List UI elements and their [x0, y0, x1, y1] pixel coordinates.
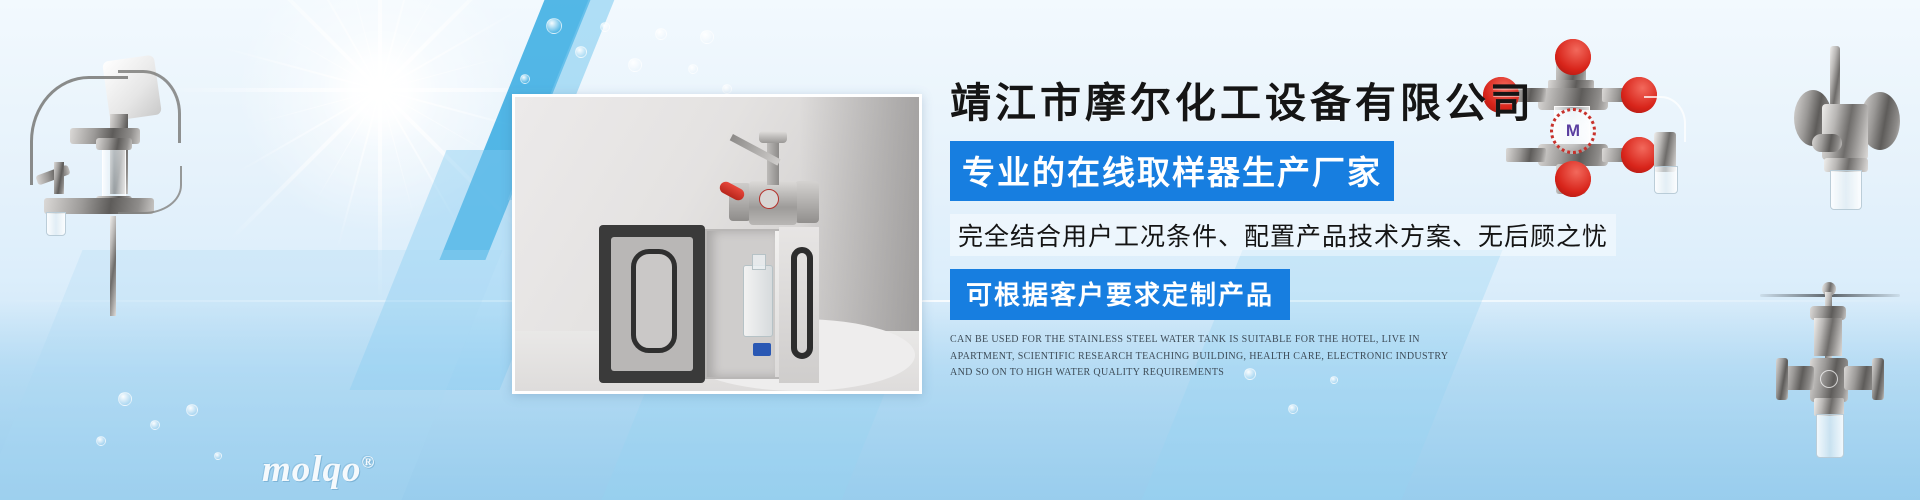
subheadline: 完全结合用户工况条件、配置产品技术方案、无后顾之忧: [950, 214, 1616, 256]
water-droplet: [150, 420, 160, 430]
product-photo: [512, 94, 922, 394]
valve-badge: [759, 189, 779, 209]
equipment-flanged-sampling-valve: [1774, 272, 1920, 492]
water-droplet: [520, 74, 530, 84]
valve-flange-right: [795, 181, 819, 223]
cabinet-door-window: [631, 249, 677, 353]
water-droplet: [700, 30, 714, 44]
water-droplet: [600, 22, 610, 32]
english-description: CAN BE USED FOR THE STAINLESS STEEL WATE…: [950, 332, 1450, 382]
equipment-lever-valve: [1768, 30, 1920, 250]
cabinet-handle: [791, 247, 813, 359]
water-droplet: [118, 392, 132, 406]
sample-bottle: [743, 265, 773, 337]
headline-badge: 专业的在线取样器生产厂家: [950, 141, 1394, 201]
water-droplet: [722, 84, 732, 94]
water-droplet: [546, 18, 562, 34]
banner-text-block: 靖江市摩尔化工设备有限公司 专业的在线取样器生产厂家 完全结合用户工况条件、配置…: [950, 78, 1710, 382]
valve-knob: [759, 131, 787, 143]
equipment-left-sampler: [10, 30, 200, 320]
water-droplet: [96, 436, 106, 446]
blue-cap: [753, 343, 771, 356]
water-droplet: [688, 64, 698, 74]
sampler-valve-assembly: [727, 133, 819, 233]
red-handwheel-top: [1560, 44, 1586, 70]
water-droplet: [575, 46, 587, 58]
water-droplet: [186, 404, 198, 416]
watermark-logo: molqo®: [262, 448, 375, 491]
watermark-registered-mark: ®: [362, 453, 376, 472]
watermark-text: molqo: [262, 449, 362, 490]
company-name: 靖江市摩尔化工设备有限公司: [950, 78, 1710, 129]
water-droplet: [655, 28, 667, 40]
water-droplet: [214, 452, 222, 460]
water-droplet: [628, 58, 642, 72]
water-droplet: [1288, 404, 1298, 414]
promotional-banner: M 靖江市摩尔化工设备有限公司 专业的在线取样器生产厂家 完全结合用户工况条件、…: [0, 0, 1920, 500]
custom-product-badge: 可根据客户要求定制产品: [950, 269, 1290, 320]
